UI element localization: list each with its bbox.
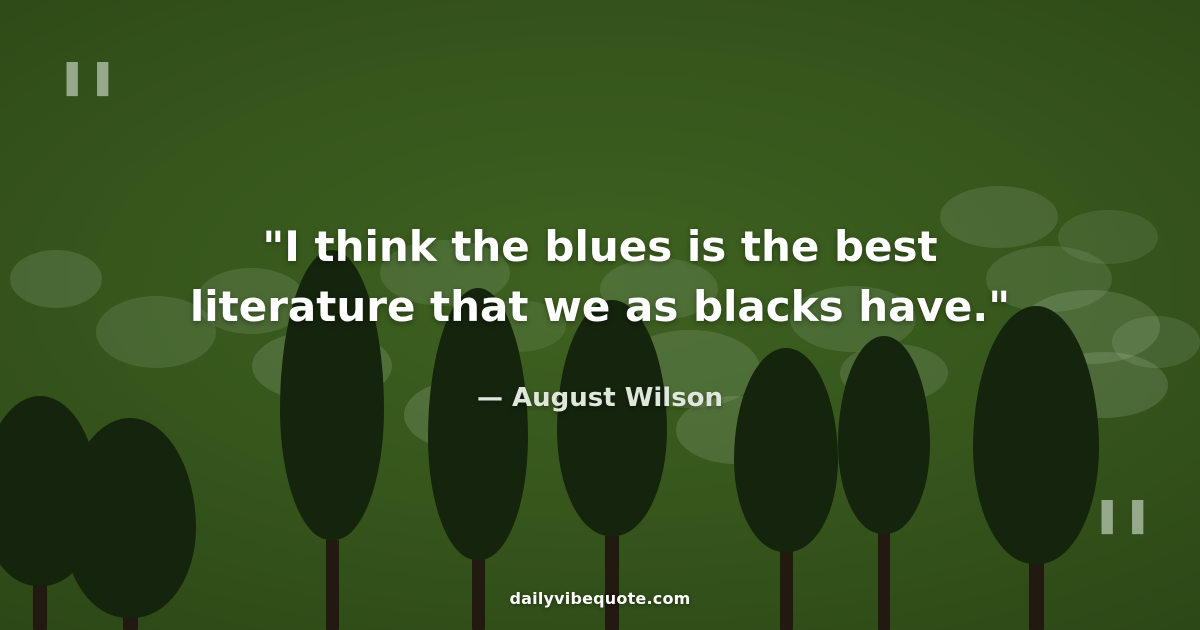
quote-author: — August Wilson: [477, 383, 723, 413]
quote-content: "I think the blues is the best literatur…: [0, 0, 1200, 630]
quote-text: "I think the blues is the best literatur…: [160, 217, 1040, 336]
quote-image: ❚❚ ❚❚ "I think the blues is the best lit…: [0, 0, 1200, 630]
site-watermark: dailyvibequote.com: [0, 589, 1200, 608]
